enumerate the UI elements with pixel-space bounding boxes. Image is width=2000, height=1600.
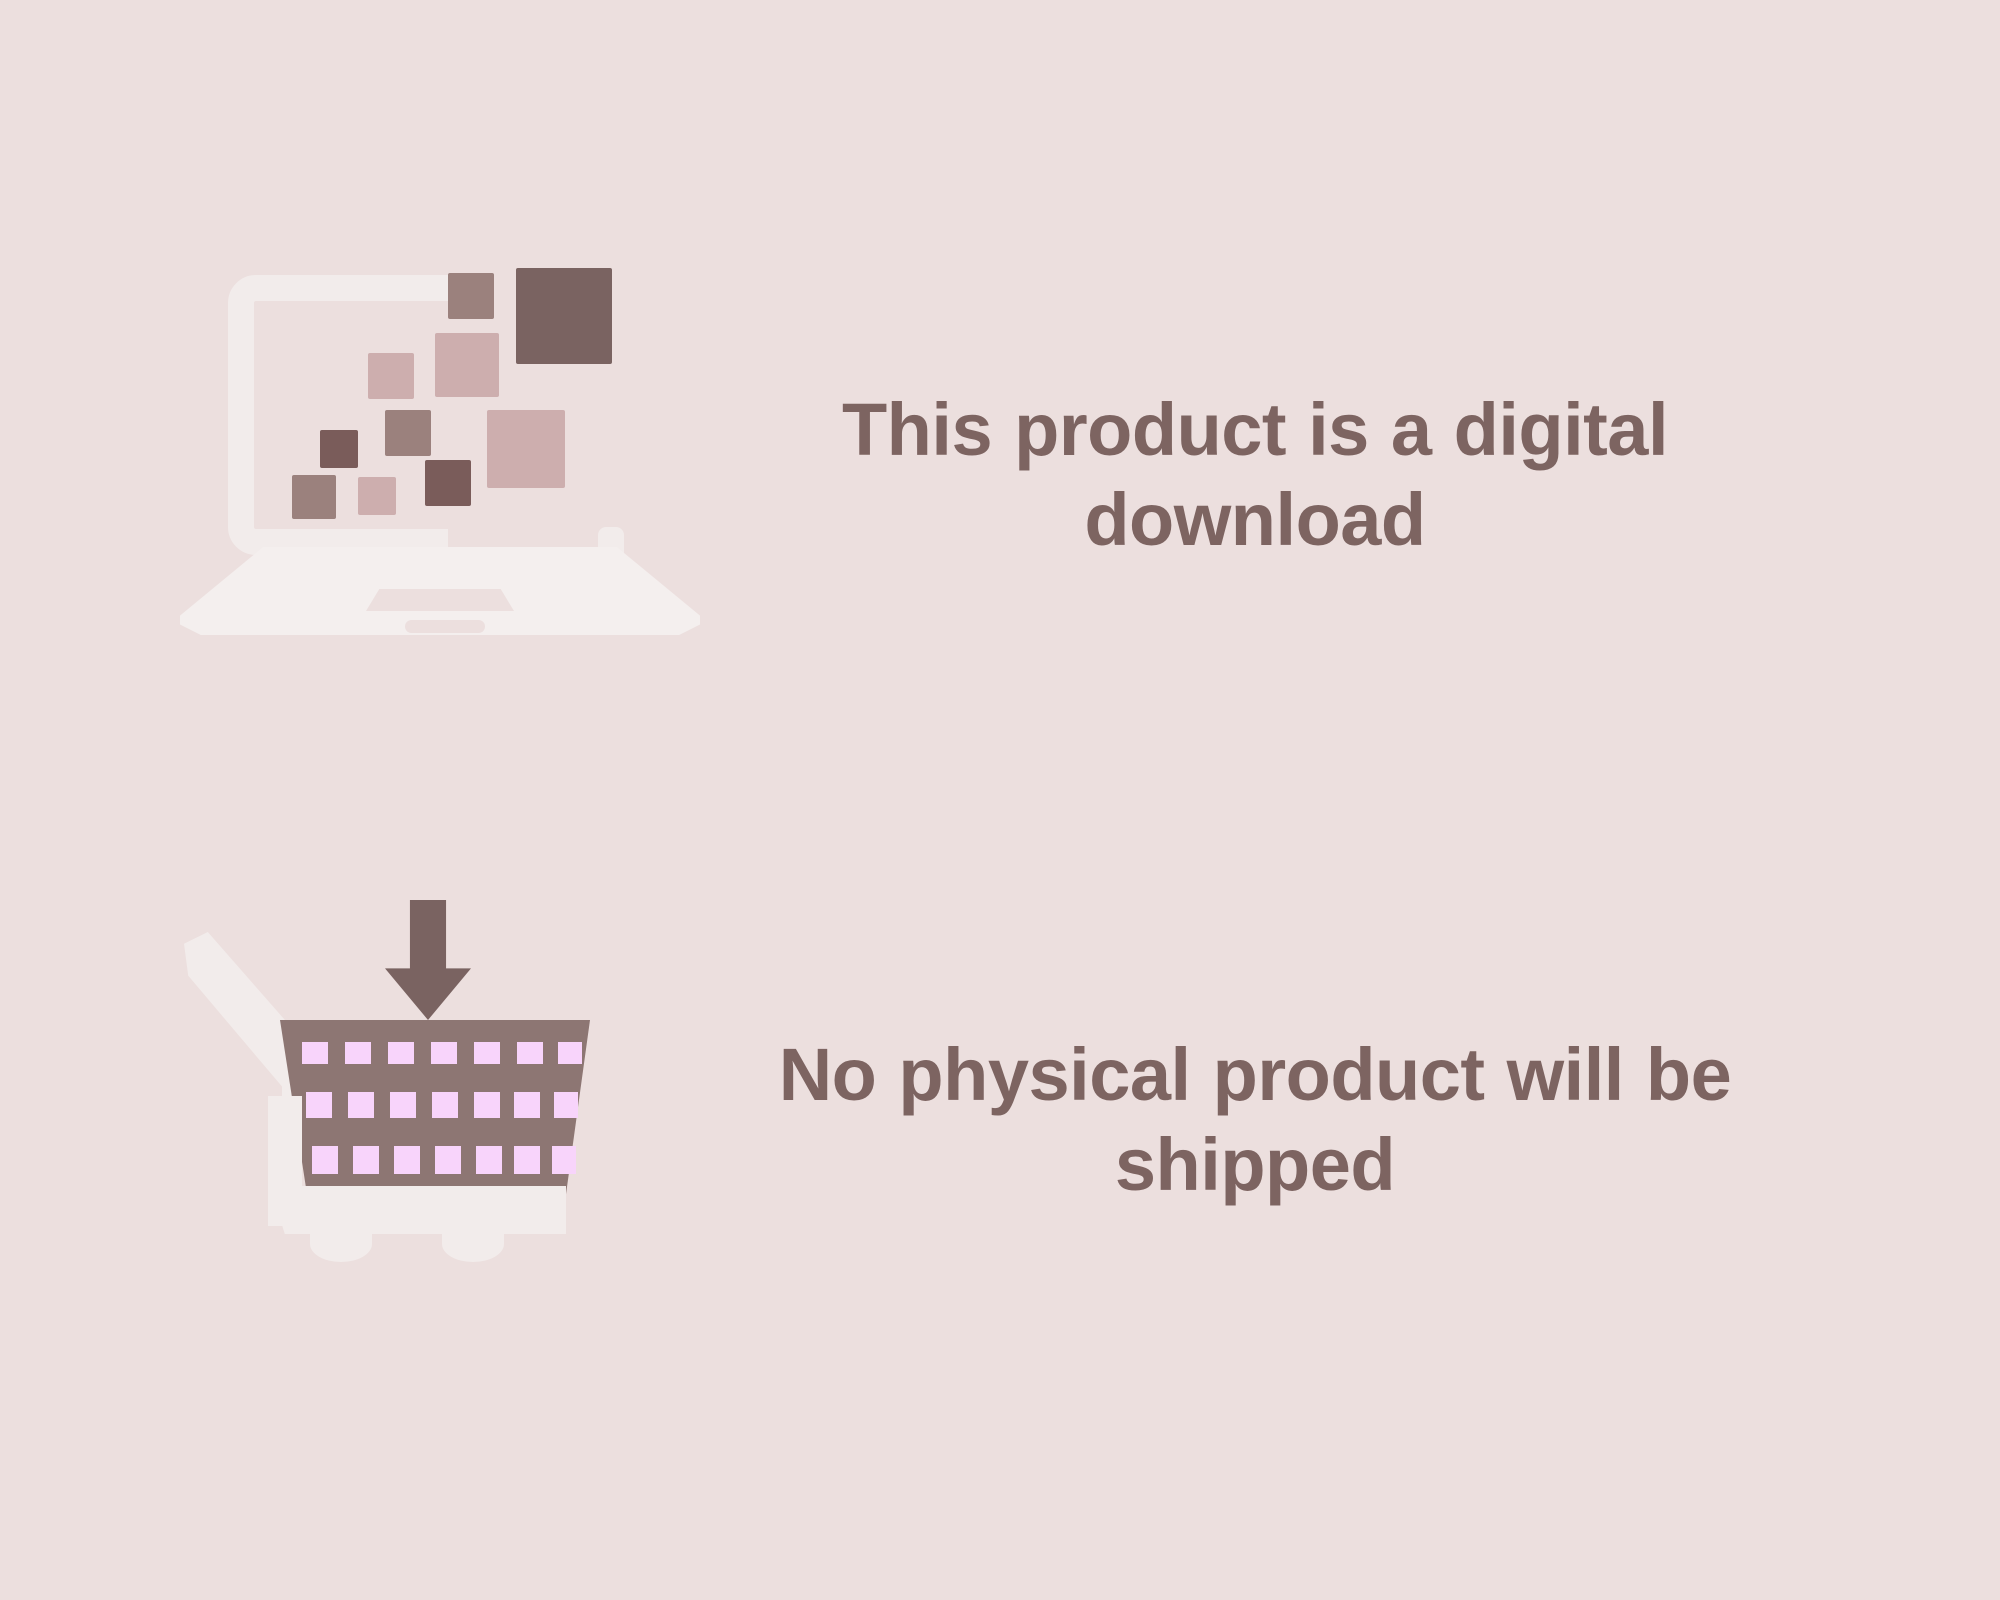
pixel-square <box>487 410 565 488</box>
download-arrow-icon <box>385 900 471 1020</box>
digital-download-text-cell: This product is a digital download <box>740 385 2000 566</box>
laptop-pixels-icon <box>180 265 700 705</box>
laptop-trackpad <box>366 589 514 611</box>
pixel-square <box>358 477 396 515</box>
shopping-cart-download-icon <box>180 900 700 1340</box>
cart-icon-cell <box>0 890 740 1350</box>
no-physical-shipping-text: No physical product will be shipped <box>740 1030 1770 1211</box>
digital-download-text: This product is a digital download <box>740 385 1770 566</box>
cart-grid-cell <box>558 1042 582 1064</box>
cart-grid-cell <box>345 1042 371 1064</box>
cart-grid-cell <box>390 1092 416 1118</box>
info-row-no-physical-shipping: No physical product will be shipped <box>0 890 2000 1350</box>
cart-grid-cell <box>302 1042 328 1064</box>
pixel-square <box>368 353 414 399</box>
cart-grid-cell <box>312 1146 338 1174</box>
cart-grid-cell <box>476 1146 502 1174</box>
cart-grid-cell <box>435 1146 461 1174</box>
pixel-square <box>516 268 612 364</box>
cart-grid-cell <box>388 1042 414 1064</box>
cart-grid-cell <box>514 1092 540 1118</box>
pixel-square <box>448 273 494 319</box>
cart-grid-cell <box>353 1146 379 1174</box>
cart-grid-cell <box>552 1146 576 1174</box>
cart-wheel-left <box>310 1226 372 1262</box>
poster-canvas: This product is a digital download <box>0 0 2000 1600</box>
pixel-square <box>435 333 499 397</box>
cart-grid-cell <box>514 1146 540 1174</box>
pixel-square <box>385 410 431 456</box>
cart-grid-cell <box>554 1092 578 1118</box>
cart-grid-cell <box>474 1092 500 1118</box>
cart-grid-cell <box>348 1092 374 1118</box>
cart-grid-cell <box>394 1146 420 1174</box>
pixel-square <box>292 475 336 519</box>
cart-wheel-right <box>442 1226 504 1262</box>
pixel-square <box>425 460 471 506</box>
no-physical-shipping-text-cell: No physical product will be shipped <box>740 1030 2000 1211</box>
cart-grid-cell <box>306 1092 332 1118</box>
cart-grid-cell <box>474 1042 500 1064</box>
cart-grid-cell <box>431 1042 457 1064</box>
cart-grid-cell <box>517 1042 543 1064</box>
info-row-digital-download: This product is a digital download <box>0 245 2000 705</box>
pixel-square <box>320 430 358 468</box>
cart-grid-cell <box>432 1092 458 1118</box>
laptop-icon-cell <box>0 245 740 705</box>
laptop-front-notch <box>405 620 485 633</box>
cart-basket-grid <box>280 1020 590 1200</box>
